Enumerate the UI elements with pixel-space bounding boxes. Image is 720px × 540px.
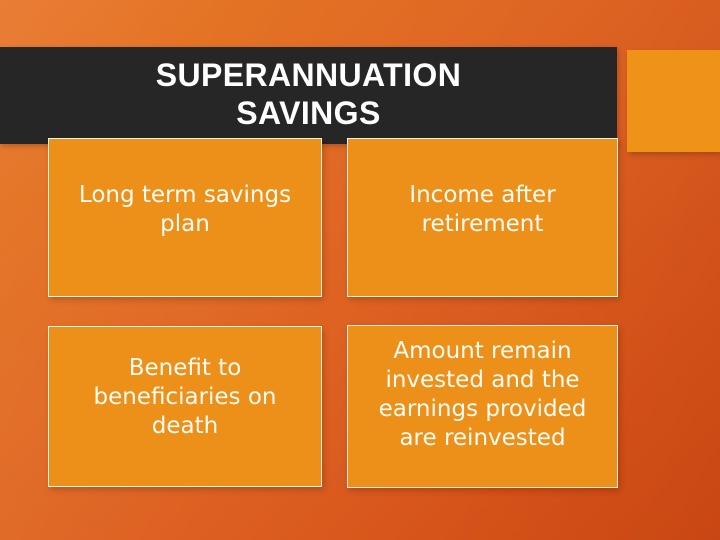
content-card-text: Amount remain invested and the earnings … (348, 337, 617, 453)
title-band (0, 47, 617, 144)
content-card-income-after-retirement[interactable]: Income after retirement (347, 138, 618, 297)
content-card-benefit-to-beneficiaries-on-death[interactable]: Benefit to beneficiaries on death (48, 326, 322, 487)
presentation-slide: SUPERANNUATION SAVINGS Long term savings… (0, 0, 720, 540)
content-card-amount-remain-invested[interactable]: Amount remain invested and the earnings … (347, 325, 618, 488)
content-card-text: Income after retirement (348, 181, 617, 239)
content-card-text: Long term savings plan (49, 181, 321, 239)
accent-square-decoration (627, 50, 720, 152)
content-card-text: Benefit to beneficiaries on death (49, 354, 321, 441)
content-card-long-term-savings-plan[interactable]: Long term savings plan (48, 138, 322, 297)
